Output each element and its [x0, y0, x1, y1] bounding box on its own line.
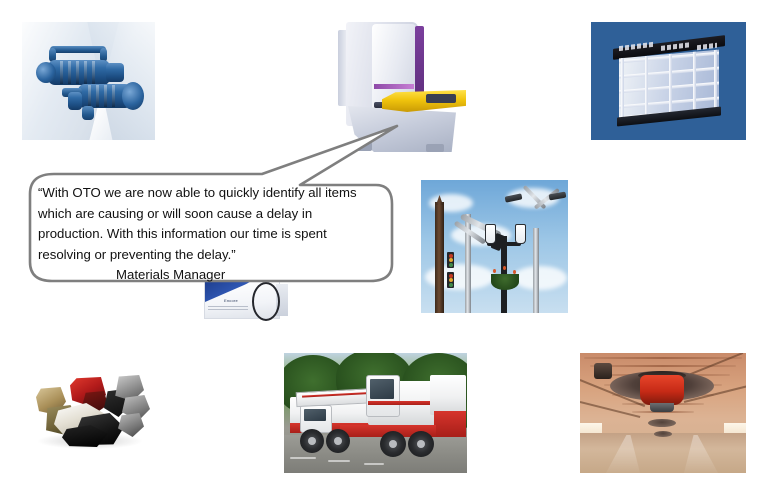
shelving-post-5 — [714, 50, 717, 112]
pump-rear-rib-2 — [68, 61, 71, 84]
pump-rear-top-pipe — [50, 46, 106, 53]
barn-heater-distant-1 — [648, 419, 676, 427]
pump-rear-motor — [106, 63, 124, 82]
pump-rear-body — [48, 60, 110, 85]
slide-canvas: Encore — [0, 0, 768, 500]
traffic-signal-1-green — [449, 263, 453, 267]
crane-wheel-4 — [408, 431, 434, 457]
traffic-signal-2-amber — [449, 278, 453, 282]
pump-front-rib-1 — [88, 85, 91, 107]
shelving-unit — [613, 42, 725, 122]
pump-rear-rib-5 — [92, 61, 95, 84]
testimonial-attribution: Materials Manager — [38, 265, 374, 286]
road-marking-3 — [364, 463, 384, 465]
product-box-text-rule-1 — [208, 306, 248, 307]
pump-rear-end-cap — [36, 62, 56, 83]
press-arm-gripper — [426, 94, 456, 103]
press-brand-stripe — [374, 84, 414, 89]
image-tile-retail-shelving[interactable] — [591, 22, 746, 140]
image-tile-poultry-barn[interactable] — [580, 353, 746, 473]
crane-wheel-2 — [326, 429, 350, 453]
image-tile-pumps[interactable] — [22, 22, 155, 140]
barn-roof-rib-1 — [584, 357, 742, 359]
barn-heater-side-left — [594, 363, 612, 379]
wood-utility-pole — [435, 202, 444, 313]
flower-bloom-3 — [513, 270, 516, 274]
pump-front-rib-4 — [112, 85, 115, 107]
shelving-post-2 — [645, 56, 648, 118]
crane-wheel-3 — [380, 431, 406, 457]
crane-wheel-4-hub — [417, 440, 425, 448]
image-tile-press-brake[interactable] — [330, 18, 474, 158]
crane-wheel-1 — [300, 429, 324, 453]
crane-counterweight — [430, 375, 466, 415]
pump-rear-rib-4 — [84, 61, 87, 84]
pump-front-motor — [68, 92, 82, 110]
barn-heater-burner — [650, 403, 674, 412]
flower-bloom-1 — [493, 269, 496, 273]
traffic-signal-2-red — [449, 274, 453, 278]
crane-wheel-2-hub — [334, 437, 342, 445]
street-light-pole — [533, 228, 539, 313]
decorative-lamp-globe-left — [485, 224, 496, 244]
flower-bloom-2 — [503, 266, 506, 270]
crane-wheel-1-hub — [308, 437, 316, 445]
barn-floor-litter — [580, 433, 746, 473]
decorative-lamp-globe-right — [515, 224, 526, 244]
product-box-brand-label: Encore — [224, 298, 238, 303]
image-tile-mineral-ore[interactable] — [22, 357, 164, 474]
crane-wheel-3-hub — [389, 440, 397, 448]
crane-body-stripe — [368, 401, 438, 405]
traffic-signal-1 — [447, 252, 454, 268]
shelving-post-4 — [693, 52, 696, 114]
traffic-signal-2-green — [449, 283, 453, 287]
pump-front-rib-2 — [96, 85, 99, 107]
cloud-5 — [513, 266, 567, 290]
traffic-signal-2 — [447, 272, 454, 288]
crane-driver-cab-window — [304, 409, 326, 421]
image-tile-mobile-crane[interactable] — [284, 353, 467, 473]
barn-heater-distant-2 — [654, 431, 672, 437]
image-tile-utility-poles[interactable] — [421, 180, 568, 313]
shelving-post-3 — [669, 54, 672, 116]
traffic-signal-1-amber — [449, 258, 453, 262]
road-marking-1 — [290, 457, 316, 459]
lamp-post-flower-basket — [491, 274, 519, 290]
barn-heater-red-canopy — [640, 375, 684, 405]
pump-rear-rib-3 — [76, 61, 79, 84]
press-foot-right — [426, 144, 444, 152]
pump-front-discharge-flange — [82, 106, 94, 120]
pump-front-end-cap — [122, 82, 144, 110]
crane-rear-red-block — [434, 411, 466, 437]
shelving-post-1 — [621, 58, 624, 120]
testimonial-quote: “With OTO we are now able to quickly ide… — [38, 185, 357, 262]
testimonial-text-block: “With OTO we are now able to quickly ide… — [38, 183, 374, 286]
pump-front-rib-3 — [104, 85, 107, 107]
product-box-text-rule-2 — [208, 309, 248, 310]
product-drive-belt — [252, 282, 280, 321]
testimonial-speech-bubble[interactable]: “With OTO we are now able to quickly ide… — [14, 168, 394, 286]
crane-operator-cab-window — [370, 379, 394, 399]
pump-rear-rib-1 — [60, 61, 63, 84]
traffic-signal-1-red — [449, 254, 453, 258]
road-marking-2 — [328, 460, 350, 462]
